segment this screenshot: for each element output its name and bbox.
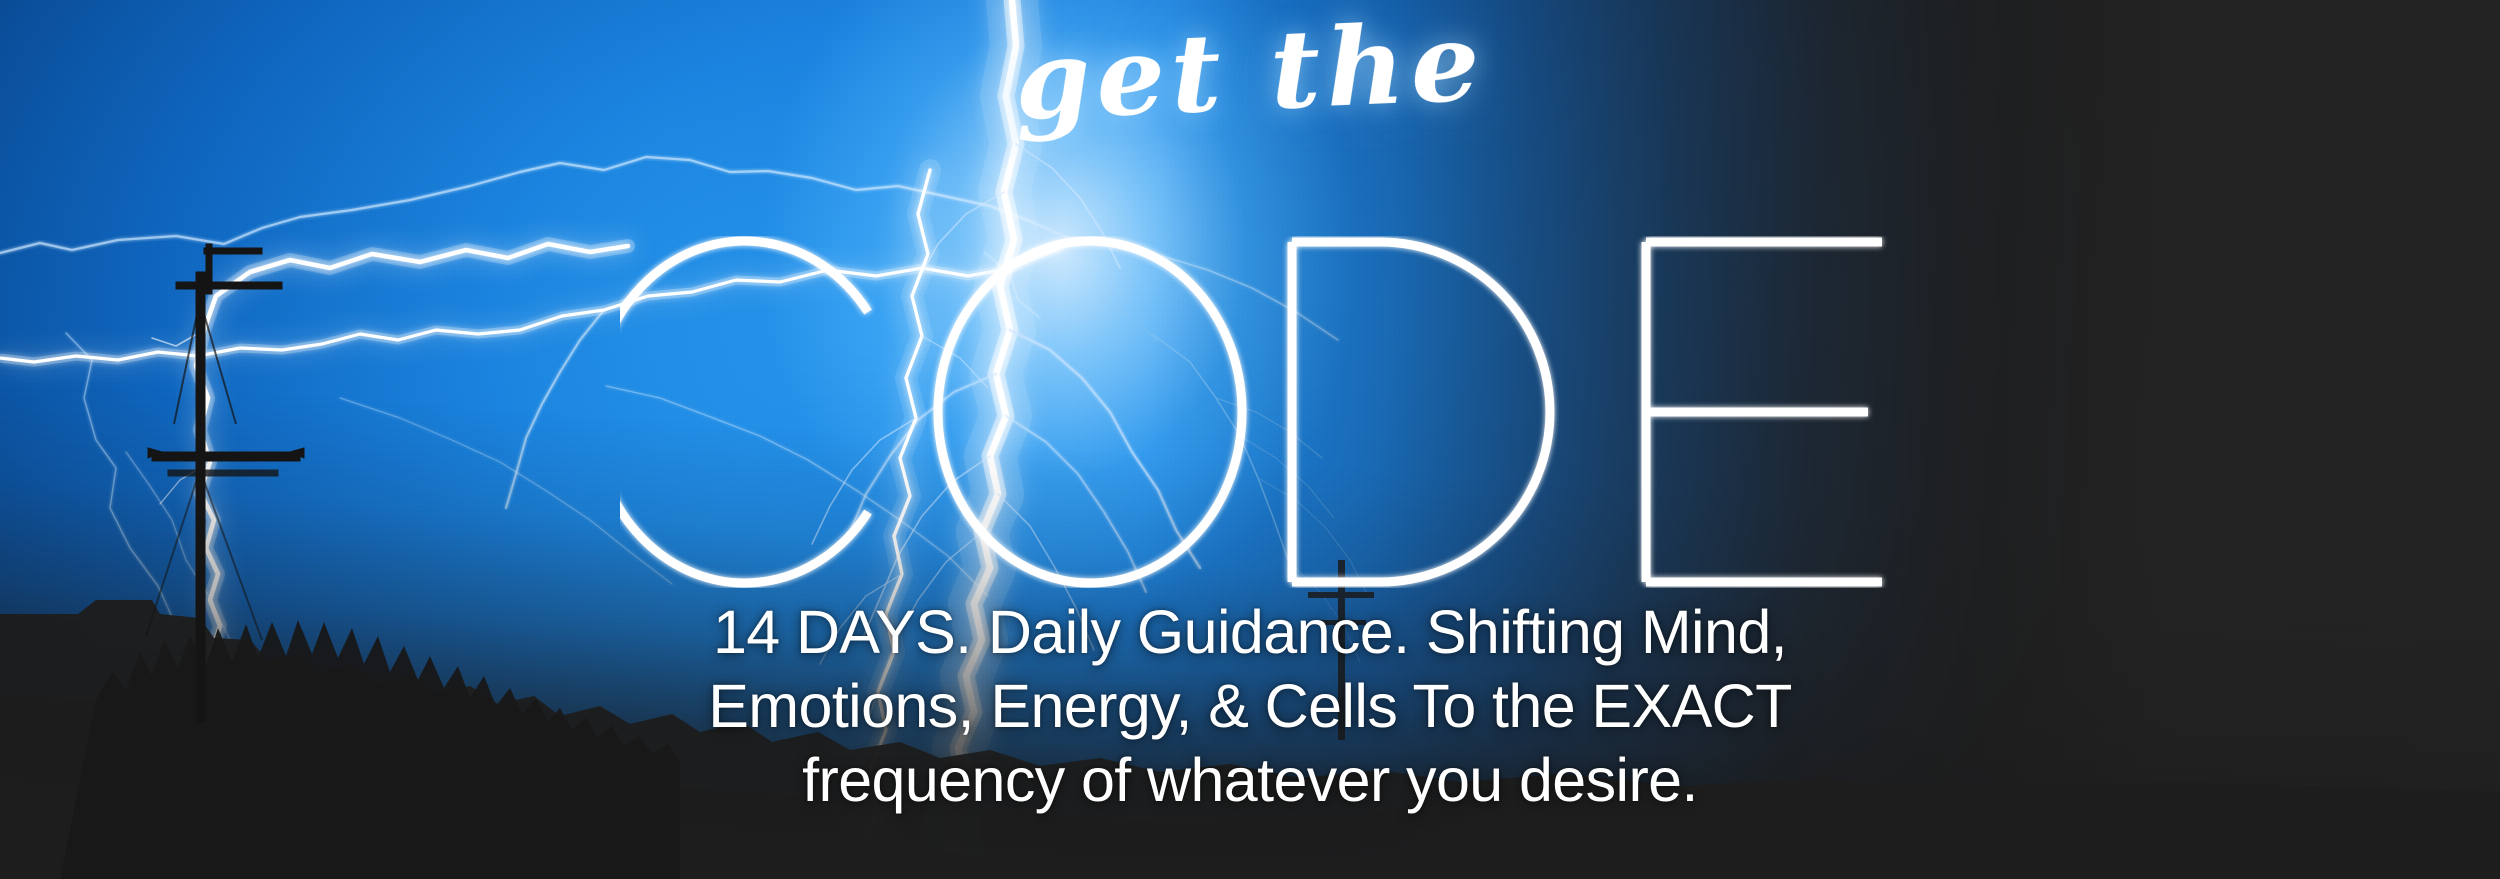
film-grain-overlay — [0, 0, 2500, 879]
promo-banner: get the — [0, 0, 2500, 879]
